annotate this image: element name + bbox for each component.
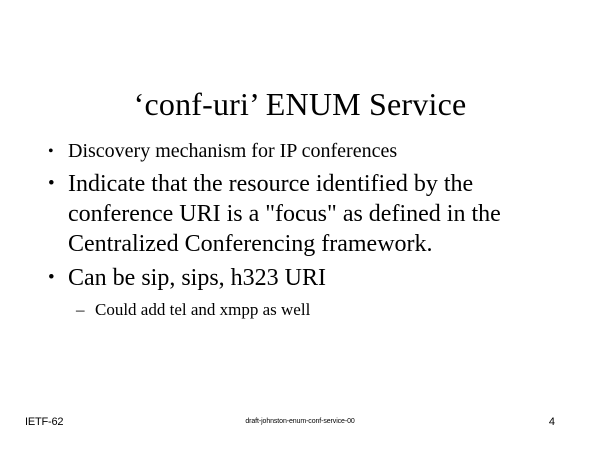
slide-footer: IETF-62 draft-johnston-enum-conf-service…: [0, 414, 600, 430]
bullet-item: • Can be sip, sips, h323 URI: [0, 263, 600, 293]
bullet-marker-icon: •: [48, 138, 64, 165]
bullet-marker-icon: •: [48, 263, 64, 293]
bullet-text: Discovery mechanism for IP conferences: [68, 138, 542, 165]
footer-document-id: draft-johnston-enum-conf-service-00: [0, 414, 600, 430]
dash-marker-icon: –: [76, 297, 94, 322]
bullet-text: Indicate that the resource identified by…: [68, 169, 542, 259]
bullet-item: • Discovery mechanism for IP conferences: [0, 138, 600, 165]
slide-title: ‘conf-uri’ ENUM Service: [0, 85, 600, 123]
slide-body: • Discovery mechanism for IP conferences…: [0, 138, 600, 322]
bullet-item: • Indicate that the resource identified …: [0, 169, 600, 259]
bullet-text: Can be sip, sips, h323 URI: [68, 263, 542, 293]
sub-bullet-text: Could add tel and xmpp as well: [95, 297, 542, 322]
bullet-marker-icon: •: [48, 169, 64, 199]
slide: ‘conf-uri’ ENUM Service • Discovery mech…: [0, 0, 600, 450]
footer-page-number: 4: [549, 414, 555, 430]
sub-bullet-item: – Could add tel and xmpp as well: [0, 297, 600, 322]
